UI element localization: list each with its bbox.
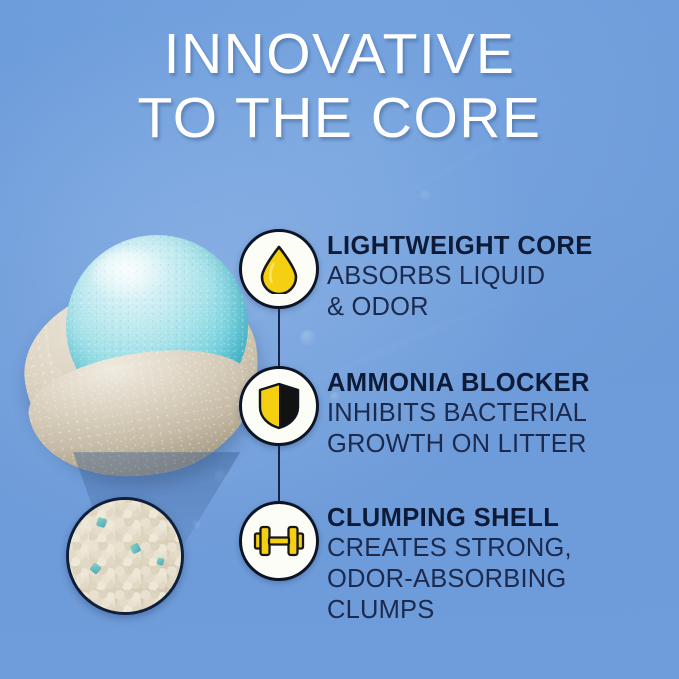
page-title: INNOVATIVE TO THE CORE [0,22,679,150]
feature-title: AMMONIA BLOCKER [327,368,590,398]
product-feature-infographic: INNOVATIVE TO THE CORE [0,0,679,679]
feature-description: ABSORBS LIQUID & ODOR [327,261,593,323]
cutaway-litter-sphere [18,235,268,480]
feature-description: CREATES STRONG, ODOR-ABSORBING CLUMPS [327,533,572,626]
feature-text-block: AMMONIA BLOCKER INHIBITS BACTERIAL GROWT… [327,366,590,460]
feature-title: LIGHTWEIGHT CORE [327,231,593,261]
feature-row-ammonia-blocker: AMMONIA BLOCKER INHIBITS BACTERIAL GROWT… [239,366,590,460]
feature-title: CLUMPING SHELL [327,503,572,533]
feature-description: INHIBITS BACTERIAL GROWTH ON LITTER [327,398,590,460]
core-highlight [92,249,170,301]
feature-text-block: CLUMPING SHELL CREATES STRONG, ODOR-ABSO… [327,501,572,626]
feature-text-block: LIGHTWEIGHT CORE ABSORBS LIQUID & ODOR [327,229,593,323]
droplet-icon [239,229,319,309]
feature-row-lightweight-core: LIGHTWEIGHT CORE ABSORBS LIQUID & ODOR [239,229,593,323]
shield-icon [239,366,319,446]
magnified-litter-granules [66,497,184,615]
feature-row-clumping-shell: CLUMPING SHELL CREATES STRONG, ODOR-ABSO… [239,501,572,626]
granule-texture [66,497,184,615]
dumbbell-icon [239,501,319,581]
